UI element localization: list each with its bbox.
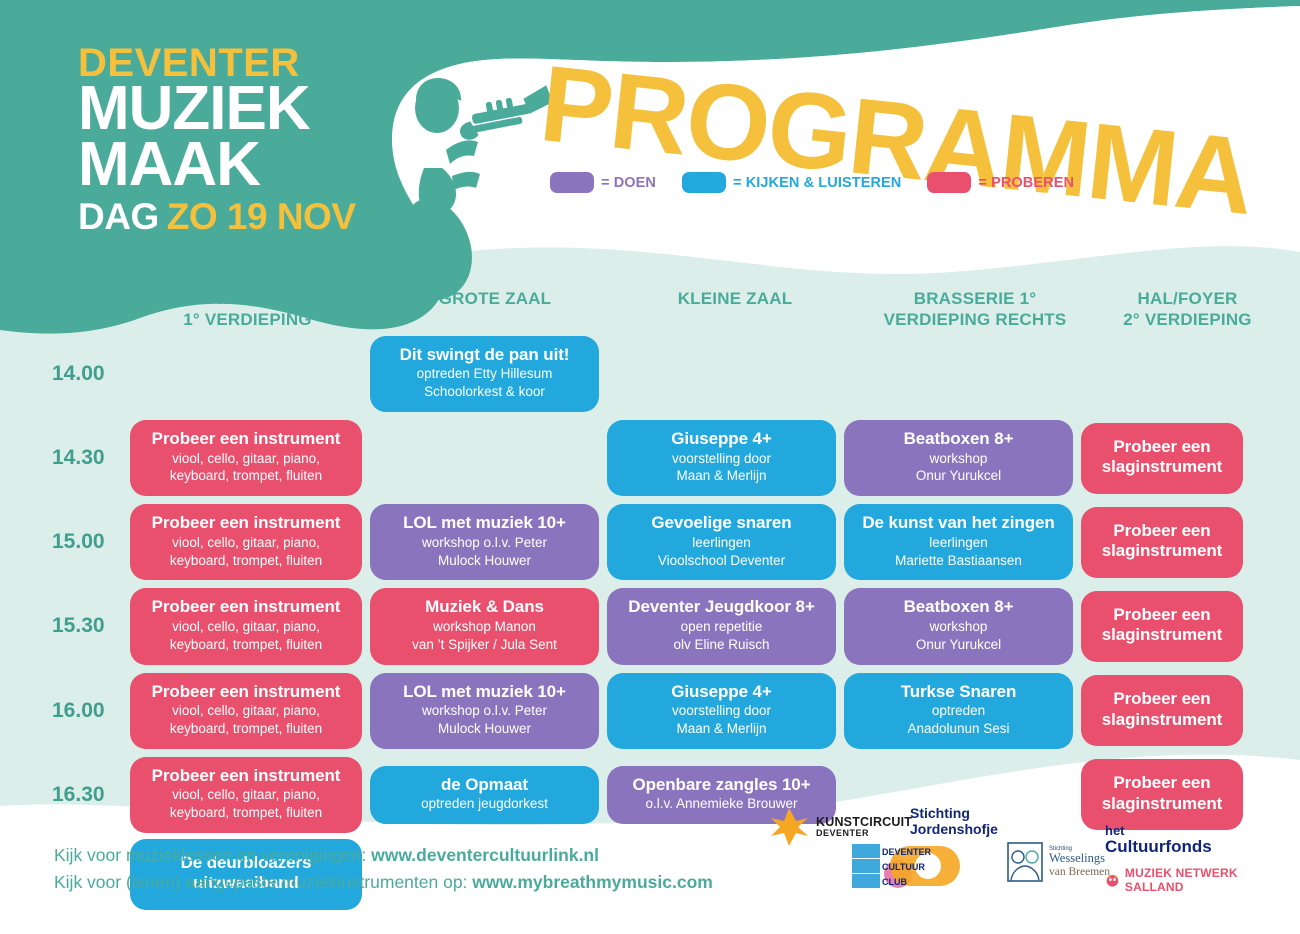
footer-link-mybreathmymusic[interactable]: www.mybreathmymusic.com — [472, 872, 713, 892]
event-title: Probeer eenslaginstrument — [1091, 689, 1233, 730]
kunstcircuit-star-icon — [768, 806, 810, 848]
schedule-row: 14.30Probeer een instrumentviool, cello,… — [40, 420, 1265, 496]
wesselings-line1: Wesselings — [1049, 852, 1110, 866]
event-subtitle: viool, cello, gitaar, piano, — [140, 619, 352, 636]
event-subtitle: Mulock Houwer — [380, 721, 589, 738]
schedule-slot: Giuseppe 4+voorstelling doorMaan & Merli… — [607, 420, 844, 496]
event-title: Gevoelige snaren — [617, 513, 826, 533]
event-card[interactable]: Probeer een instrumentviool, cello, gita… — [130, 420, 362, 496]
logo-muziek-netwerk-salland: MUZIEK NETWERK SALLAND — [1105, 866, 1270, 894]
event-title: Probeer een instrument — [140, 682, 352, 702]
event-subtitle: Vioolschool Deventer — [617, 553, 826, 570]
event-card[interactable]: Muziek & Dansworkshop Manonvan ’t Spijke… — [370, 588, 599, 664]
event-title: De kunst van het zingen — [854, 513, 1063, 533]
event-title: Openbare zangles 10+ — [617, 775, 826, 795]
event-subtitle: leerlingen — [617, 535, 826, 552]
event-card[interactable]: de Opmaatoptreden jeugdorkest — [370, 766, 599, 824]
legend: = DOEN = KIJKEN & LUISTEREN = PROBEREN — [550, 172, 1074, 193]
footer-links: Kijk voor muzieklessen en verenigingen: … — [54, 842, 713, 896]
event-title: LOL met muziek 10+ — [380, 682, 589, 702]
sponsor-logos: KUNSTCIRCUIT DEVENTER Stichting Jordensh… — [760, 800, 1270, 896]
schedule-slot: Probeer eenslaginstrument — [1081, 423, 1251, 494]
event-title: Giuseppe 4+ — [617, 429, 826, 449]
event-card[interactable]: Probeer eenslaginstrument — [1081, 591, 1243, 662]
event-card[interactable]: Probeer een instrumentviool, cello, gita… — [130, 504, 362, 580]
column-headers: THEATERCAFE & 1° VERDIEPING GROTE ZAAL K… — [120, 288, 1280, 331]
schedule-slot: De kunst van het zingenleerlingenMariett… — [844, 504, 1081, 580]
event-subtitle: viool, cello, gitaar, piano, — [140, 703, 352, 720]
legend-item-proberen: = PROBEREN — [927, 172, 1074, 193]
column-header-hal-foyer: HAL/FOYER 2° VERDIEPING — [1095, 288, 1280, 331]
column-header-line1: KLEINE ZAAL — [615, 288, 855, 309]
event-card[interactable]: Probeer een instrumentviool, cello, gita… — [130, 588, 362, 664]
schedule-slot: Dit swingt de pan uit!optreden Etty Hill… — [370, 336, 607, 412]
dcc-line2: CULTUUR — [882, 862, 925, 872]
schedule-slot: Probeer een instrumentviool, cello, gita… — [130, 504, 370, 580]
event-title: Probeer een instrument — [140, 597, 352, 617]
event-card[interactable]: Gevoelige snarenleerlingenVioolschool De… — [607, 504, 836, 580]
event-subtitle: workshop — [854, 451, 1063, 468]
event-subtitle: keyboard, trompet, fluiten — [140, 553, 352, 570]
logo-wesselings-van-breemen: Stichting Wesselings van Breemen — [1005, 840, 1110, 884]
event-card[interactable]: Probeer eenslaginstrument — [1081, 507, 1243, 578]
column-header-grote-zaal: GROTE ZAAL — [375, 288, 615, 331]
footer-line-2-text: Kijk voor (lenen) aangepaste muziekinstr… — [54, 872, 472, 892]
column-header-brasserie: BRASSERIE 1° VERDIEPING RECHTS — [855, 288, 1095, 331]
stichting-line2: Jordenshofje — [910, 822, 998, 838]
event-subtitle: Onur Yurukcel — [854, 637, 1063, 654]
wesselings-line2: van Breemen — [1049, 866, 1110, 878]
legend-swatch-kijken-luisteren — [682, 172, 726, 193]
event-card[interactable]: LOL met muziek 10+workshop o.l.v. PeterM… — [370, 504, 599, 580]
schedule-slot: Turkse SnarenoptredenAnadolunun Sesi — [844, 673, 1081, 749]
legend-item-kijken-luisteren: = KIJKEN & LUISTEREN — [682, 172, 901, 193]
event-subtitle: leerlingen — [854, 535, 1063, 552]
event-subtitle: viool, cello, gitaar, piano, — [140, 451, 352, 468]
schedule-slot: de Opmaatoptreden jeugdorkest — [370, 766, 607, 824]
event-subtitle: optreden jeugdorkest — [380, 796, 589, 813]
event-subtitle: open repetitie — [617, 619, 826, 636]
kunstcircuit-text: KUNSTCIRCUIT DEVENTER — [816, 816, 912, 839]
column-header-line1: GROTE ZAAL — [375, 288, 615, 309]
column-header-line1: BRASSERIE 1° — [855, 288, 1095, 309]
footer-line-2: Kijk voor (lenen) aangepaste muziekinstr… — [54, 869, 713, 896]
time-label: 16.00 — [40, 699, 130, 723]
event-subtitle: workshop o.l.v. Peter — [380, 703, 589, 720]
column-header-line2: 1° VERDIEPING — [120, 309, 375, 330]
logo-stichting-jordenshofje: Stichting Jordenshofje — [910, 806, 998, 837]
event-subtitle: viool, cello, gitaar, piano, — [140, 787, 352, 804]
title-line-muziek: MUZIEK — [78, 82, 356, 135]
schedule-slot: Muziek & Dansworkshop Manonvan ’t Spijke… — [370, 588, 607, 664]
event-title: Probeer eenslaginstrument — [1091, 605, 1233, 646]
schedule-slot: Gevoelige snarenleerlingenVioolschool De… — [607, 504, 844, 580]
event-subtitle: Mariette Bastiaansen — [854, 553, 1063, 570]
logo-deventer-cultuur-club: DEVENTER CULTUUR CLUB — [852, 842, 964, 890]
event-subtitle: Onur Yurukcel — [854, 468, 1063, 485]
event-card[interactable]: Beatboxen 8+workshopOnur Yurukcel — [844, 588, 1073, 664]
schedule-slot: Probeer eenslaginstrument — [1081, 675, 1251, 746]
dcc-line3: CLUB — [882, 877, 907, 887]
stichting-text: Stichting Jordenshofje — [910, 806, 998, 837]
wesselings-text: Stichting Wesselings van Breemen — [1049, 846, 1110, 878]
schedule-slot: Beatboxen 8+workshopOnur Yurukcel — [844, 588, 1081, 664]
column-header-line1: THEATERCAFE & — [120, 288, 375, 309]
event-subtitle: optreden — [854, 703, 1063, 720]
event-subtitle: workshop o.l.v. Peter — [380, 535, 589, 552]
event-title: Probeer eenslaginstrument — [1091, 437, 1233, 478]
schedule-slot: Beatboxen 8+workshopOnur Yurukcel — [844, 420, 1081, 496]
wesselings-portrait-icon — [1005, 840, 1045, 884]
event-subtitle: keyboard, trompet, fluiten — [140, 468, 352, 485]
schedule-slot: LOL met muziek 10+workshop o.l.v. PeterM… — [370, 673, 607, 749]
event-subtitle: workshop — [854, 619, 1063, 636]
event-subtitle: workshop Manon — [380, 619, 589, 636]
event-subtitle: optreden Etty Hillesum — [380, 366, 589, 383]
schedule-row: 16.00Probeer een instrumentviool, cello,… — [40, 673, 1265, 749]
schedule-slot: LOL met muziek 10+workshop o.l.v. PeterM… — [370, 504, 607, 580]
column-header-kleine-zaal: KLEINE ZAAL — [615, 288, 855, 331]
event-subtitle: keyboard, trompet, fluiten — [140, 805, 352, 822]
schedule-slot: Deventer Jeugdkoor 8+open repetitieolv E… — [607, 588, 844, 664]
schedule-slot: Probeer een instrumentviool, cello, gita… — [130, 420, 370, 496]
event-subtitle: Maan & Merlijn — [617, 468, 826, 485]
event-title: de Opmaat — [380, 775, 589, 795]
event-title: Beatboxen 8+ — [854, 597, 1063, 617]
muziek-netwerk-label: MUZIEK NETWERK SALLAND — [1125, 866, 1270, 894]
event-subtitle: olv Eline Ruisch — [617, 637, 826, 654]
event-title: Probeer een instrument — [140, 429, 352, 449]
event-title: Probeer een instrument — [140, 766, 352, 786]
muziek-netwerk-bird-icon — [1105, 871, 1120, 889]
program-poster: DEVENTER MUZIEK MAAK DAGZO 19 NOV PROGRA… — [0, 0, 1300, 934]
event-card[interactable]: De kunst van het zingenleerlingenMariett… — [844, 504, 1073, 580]
event-subtitle: viool, cello, gitaar, piano, — [140, 535, 352, 552]
event-subtitle: van ’t Spijker / Jula Sent — [380, 637, 589, 654]
event-subtitle: keyboard, trompet, fluiten — [140, 721, 352, 738]
dcc-logo-icon: DEVENTER CULTUUR CLUB — [852, 842, 964, 890]
schedule-row: 15.30Probeer een instrumentviool, cello,… — [40, 588, 1265, 664]
event-subtitle: Anadolunun Sesi — [854, 721, 1063, 738]
footer-link-cultuurlink[interactable]: www.deventercultuurlink.nl — [371, 845, 599, 865]
event-card[interactable]: Turkse SnarenoptredenAnadolunun Sesi — [844, 673, 1073, 749]
event-subtitle: Schoolorkest & koor — [380, 384, 589, 401]
time-label: 15.30 — [40, 614, 130, 638]
cultuurfonds-line1: het — [1105, 824, 1212, 838]
event-card[interactable]: Deventer Jeugdkoor 8+open repetitieolv E… — [607, 588, 836, 664]
time-label: 16.30 — [40, 783, 130, 807]
event-card[interactable]: Probeer eenslaginstrument — [1081, 423, 1243, 494]
event-subtitle: voorstelling door — [617, 703, 826, 720]
legend-swatch-proberen — [927, 172, 971, 193]
event-subtitle: voorstelling door — [617, 451, 826, 468]
title-line-dag: DAGZO 19 NOV — [78, 201, 356, 233]
event-card[interactable]: Probeer een instrumentviool, cello, gita… — [130, 757, 362, 833]
schedule-slot: Giuseppe 4+voorstelling doorMaan & Merli… — [607, 673, 844, 749]
event-card[interactable]: Beatboxen 8+workshopOnur Yurukcel — [844, 420, 1073, 496]
time-label: 14.00 — [40, 362, 130, 386]
legend-item-doen: = DOEN — [550, 172, 656, 193]
legend-label-doen: = DOEN — [601, 175, 656, 191]
footer-line-1: Kijk voor muzieklessen en verenigingen: … — [54, 842, 713, 869]
legend-label-kijken-luisteren: = KIJKEN & LUISTEREN — [733, 175, 901, 191]
column-header-line2: VERDIEPING RECHTS — [855, 309, 1095, 330]
logo-het-cultuurfonds: het Cultuurfonds — [1105, 824, 1212, 857]
cultuurfonds-text: het Cultuurfonds — [1105, 824, 1212, 857]
dcc-line1: DEVENTER — [882, 847, 932, 857]
column-header-line1: HAL/FOYER — [1095, 288, 1280, 309]
event-card[interactable]: Probeer een instrumentviool, cello, gita… — [130, 673, 362, 749]
legend-label-proberen: = PROBEREN — [978, 175, 1074, 191]
event-title: Deventer Jeugdkoor 8+ — [617, 597, 826, 617]
event-card[interactable]: Probeer eenslaginstrument — [1081, 675, 1243, 746]
column-header-theatercafe: THEATERCAFE & 1° VERDIEPING — [120, 288, 375, 331]
footer-line-1-text: Kijk voor muzieklessen en verenigingen: — [54, 845, 371, 865]
title-line-maak: MAAK — [78, 138, 356, 191]
kunstcircuit-line2: DEVENTER — [816, 829, 912, 838]
cultuurfonds-line2: Cultuurfonds — [1105, 838, 1212, 857]
kunstcircuit-line1: KUNSTCIRCUIT — [816, 816, 912, 829]
poster-title: DEVENTER MUZIEK MAAK DAGZO 19 NOV — [78, 46, 356, 233]
event-subtitle: keyboard, trompet, fluiten — [140, 637, 352, 654]
schedule-slot: Probeer een instrumentviool, cello, gita… — [130, 757, 370, 833]
event-title: Probeer een instrument — [140, 513, 352, 533]
event-title: Giuseppe 4+ — [617, 682, 826, 702]
event-title: Dit swingt de pan uit! — [380, 345, 589, 365]
event-card[interactable]: LOL met muziek 10+workshop o.l.v. PeterM… — [370, 673, 599, 749]
time-label: 15.00 — [40, 530, 130, 554]
event-title: Muziek & Dans — [380, 597, 589, 617]
schedule-slot: Probeer eenslaginstrument — [1081, 507, 1251, 578]
event-card[interactable]: Giuseppe 4+voorstelling doorMaan & Merli… — [607, 420, 836, 496]
title-dag-word: DAG — [78, 196, 159, 237]
event-card[interactable]: Giuseppe 4+voorstelling doorMaan & Merli… — [607, 673, 836, 749]
time-label: 14.30 — [40, 446, 130, 470]
event-subtitle: Maan & Merlijn — [617, 721, 826, 738]
schedule-row: 14.00Dit swingt de pan uit!optreden Etty… — [40, 336, 1265, 412]
event-title: Beatboxen 8+ — [854, 429, 1063, 449]
title-date: ZO 19 NOV — [167, 196, 356, 237]
schedule-slot: Probeer een instrumentviool, cello, gita… — [130, 588, 370, 664]
stichting-line1: Stichting — [910, 806, 998, 822]
column-header-line2: 2° VERDIEPING — [1095, 309, 1280, 330]
event-title: Probeer eenslaginstrument — [1091, 521, 1233, 562]
event-title: LOL met muziek 10+ — [380, 513, 589, 533]
event-subtitle: Mulock Houwer — [380, 553, 589, 570]
event-card[interactable]: Dit swingt de pan uit!optreden Etty Hill… — [370, 336, 599, 412]
schedule-row: 15.00Probeer een instrumentviool, cello,… — [40, 504, 1265, 580]
legend-swatch-doen — [550, 172, 594, 193]
schedule-slot: Probeer eenslaginstrument — [1081, 591, 1251, 662]
event-title: Turkse Snaren — [854, 682, 1063, 702]
schedule-slot: Probeer een instrumentviool, cello, gita… — [130, 673, 370, 749]
